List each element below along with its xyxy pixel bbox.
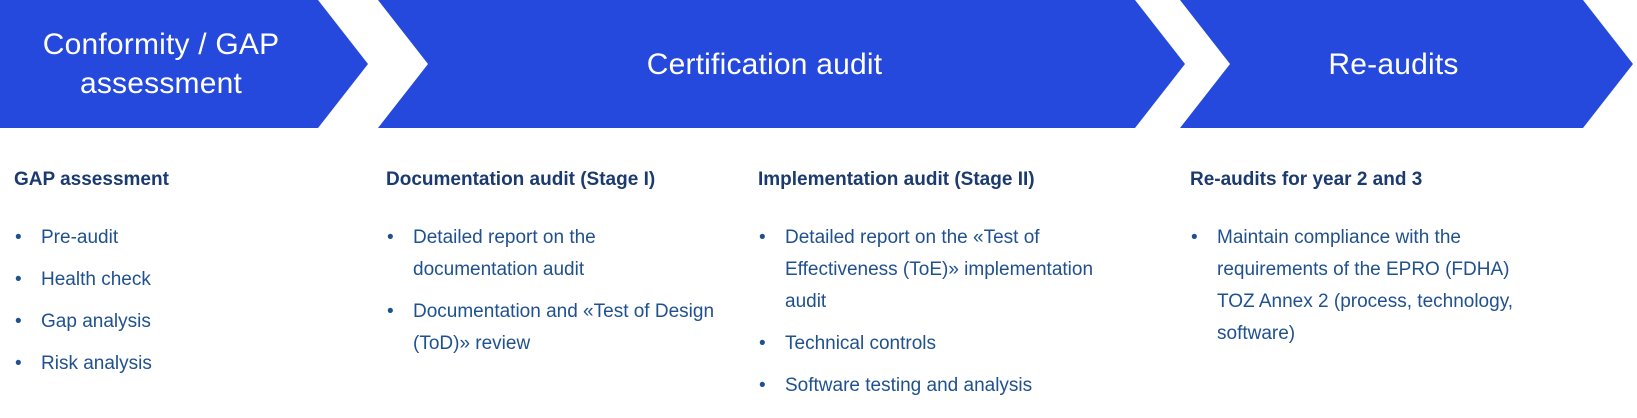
column-heading: Implementation audit (Stage II) bbox=[758, 168, 1098, 192]
list-item-text: Gap analysis bbox=[41, 306, 354, 338]
bullet-icon: • bbox=[15, 222, 22, 254]
list-item: • Software testing and analysis bbox=[758, 370, 1098, 402]
bullet-icon: • bbox=[15, 348, 22, 380]
list-item-text: Software testing and analysis bbox=[785, 370, 1098, 402]
list-item-text: Detailed report on the documentation aud… bbox=[413, 222, 716, 286]
list-item-text: Detailed report on the «Test of Effectiv… bbox=[785, 222, 1098, 318]
list-item: • Health check bbox=[14, 264, 354, 296]
bullet-list: • Pre-audit • Health check • Gap analysi… bbox=[14, 222, 354, 380]
list-item-text: Documentation and «Test of Design (ToD)»… bbox=[413, 296, 716, 360]
bullet-list: • Detailed report on the documentation a… bbox=[386, 222, 716, 360]
list-item-text: Risk analysis bbox=[41, 348, 354, 380]
list-item: • Detailed report on the «Test of Effect… bbox=[758, 222, 1098, 318]
detail-column-implementation-audit: Implementation audit (Stage II) • Detail… bbox=[758, 168, 1098, 402]
stage-banner-label: Conformity / GAP assessment bbox=[43, 25, 326, 103]
column-heading: Re-audits for year 2 and 3 bbox=[1190, 168, 1520, 192]
column-heading: GAP assessment bbox=[14, 168, 354, 192]
list-item: • Detailed report on the documentation a… bbox=[386, 222, 716, 286]
detail-column-re-audits: Re-audits for year 2 and 3 • Maintain co… bbox=[1190, 168, 1520, 350]
list-item: • Maintain compliance with the requireme… bbox=[1190, 222, 1520, 350]
detail-column-documentation-audit: Documentation audit (Stage I) • Detailed… bbox=[386, 168, 716, 360]
bullet-list: • Maintain compliance with the requireme… bbox=[1190, 222, 1520, 350]
list-item: • Pre-audit bbox=[14, 222, 354, 254]
list-item-text: Technical controls bbox=[785, 328, 1098, 360]
stage-banner-certification-audit: Certification audit bbox=[378, 0, 1185, 128]
list-item-text: Maintain compliance with the requirement… bbox=[1217, 222, 1520, 350]
bullet-icon: • bbox=[759, 222, 766, 254]
process-stage-banner-row: Conformity / GAP assessment Certificatio… bbox=[0, 0, 1637, 130]
stage-banner-conformity-gap-assessment: Conformity / GAP assessment bbox=[0, 0, 368, 128]
list-item-text: Pre-audit bbox=[41, 222, 354, 254]
bullet-icon: • bbox=[15, 264, 22, 296]
bullet-icon: • bbox=[387, 222, 394, 254]
bullet-icon: • bbox=[759, 328, 766, 360]
list-item-text: Health check bbox=[41, 264, 354, 296]
bullet-icon: • bbox=[759, 370, 766, 402]
detail-column-gap-assessment: GAP assessment • Pre-audit • Health chec… bbox=[14, 168, 354, 380]
bullet-icon: • bbox=[15, 306, 22, 338]
list-item: • Gap analysis bbox=[14, 306, 354, 338]
list-item: • Risk analysis bbox=[14, 348, 354, 380]
stage-banner-label: Certification audit bbox=[637, 45, 927, 84]
bullet-icon: • bbox=[387, 296, 394, 328]
bullet-list: • Detailed report on the «Test of Effect… bbox=[758, 222, 1098, 402]
list-item: • Technical controls bbox=[758, 328, 1098, 360]
bullet-icon: • bbox=[1191, 222, 1198, 254]
column-heading: Documentation audit (Stage I) bbox=[386, 168, 716, 192]
stage-banner-label: Re-audits bbox=[1314, 45, 1498, 84]
stage-banner-re-audits: Re-audits bbox=[1180, 0, 1633, 128]
list-item: • Documentation and «Test of Design (ToD… bbox=[386, 296, 716, 360]
